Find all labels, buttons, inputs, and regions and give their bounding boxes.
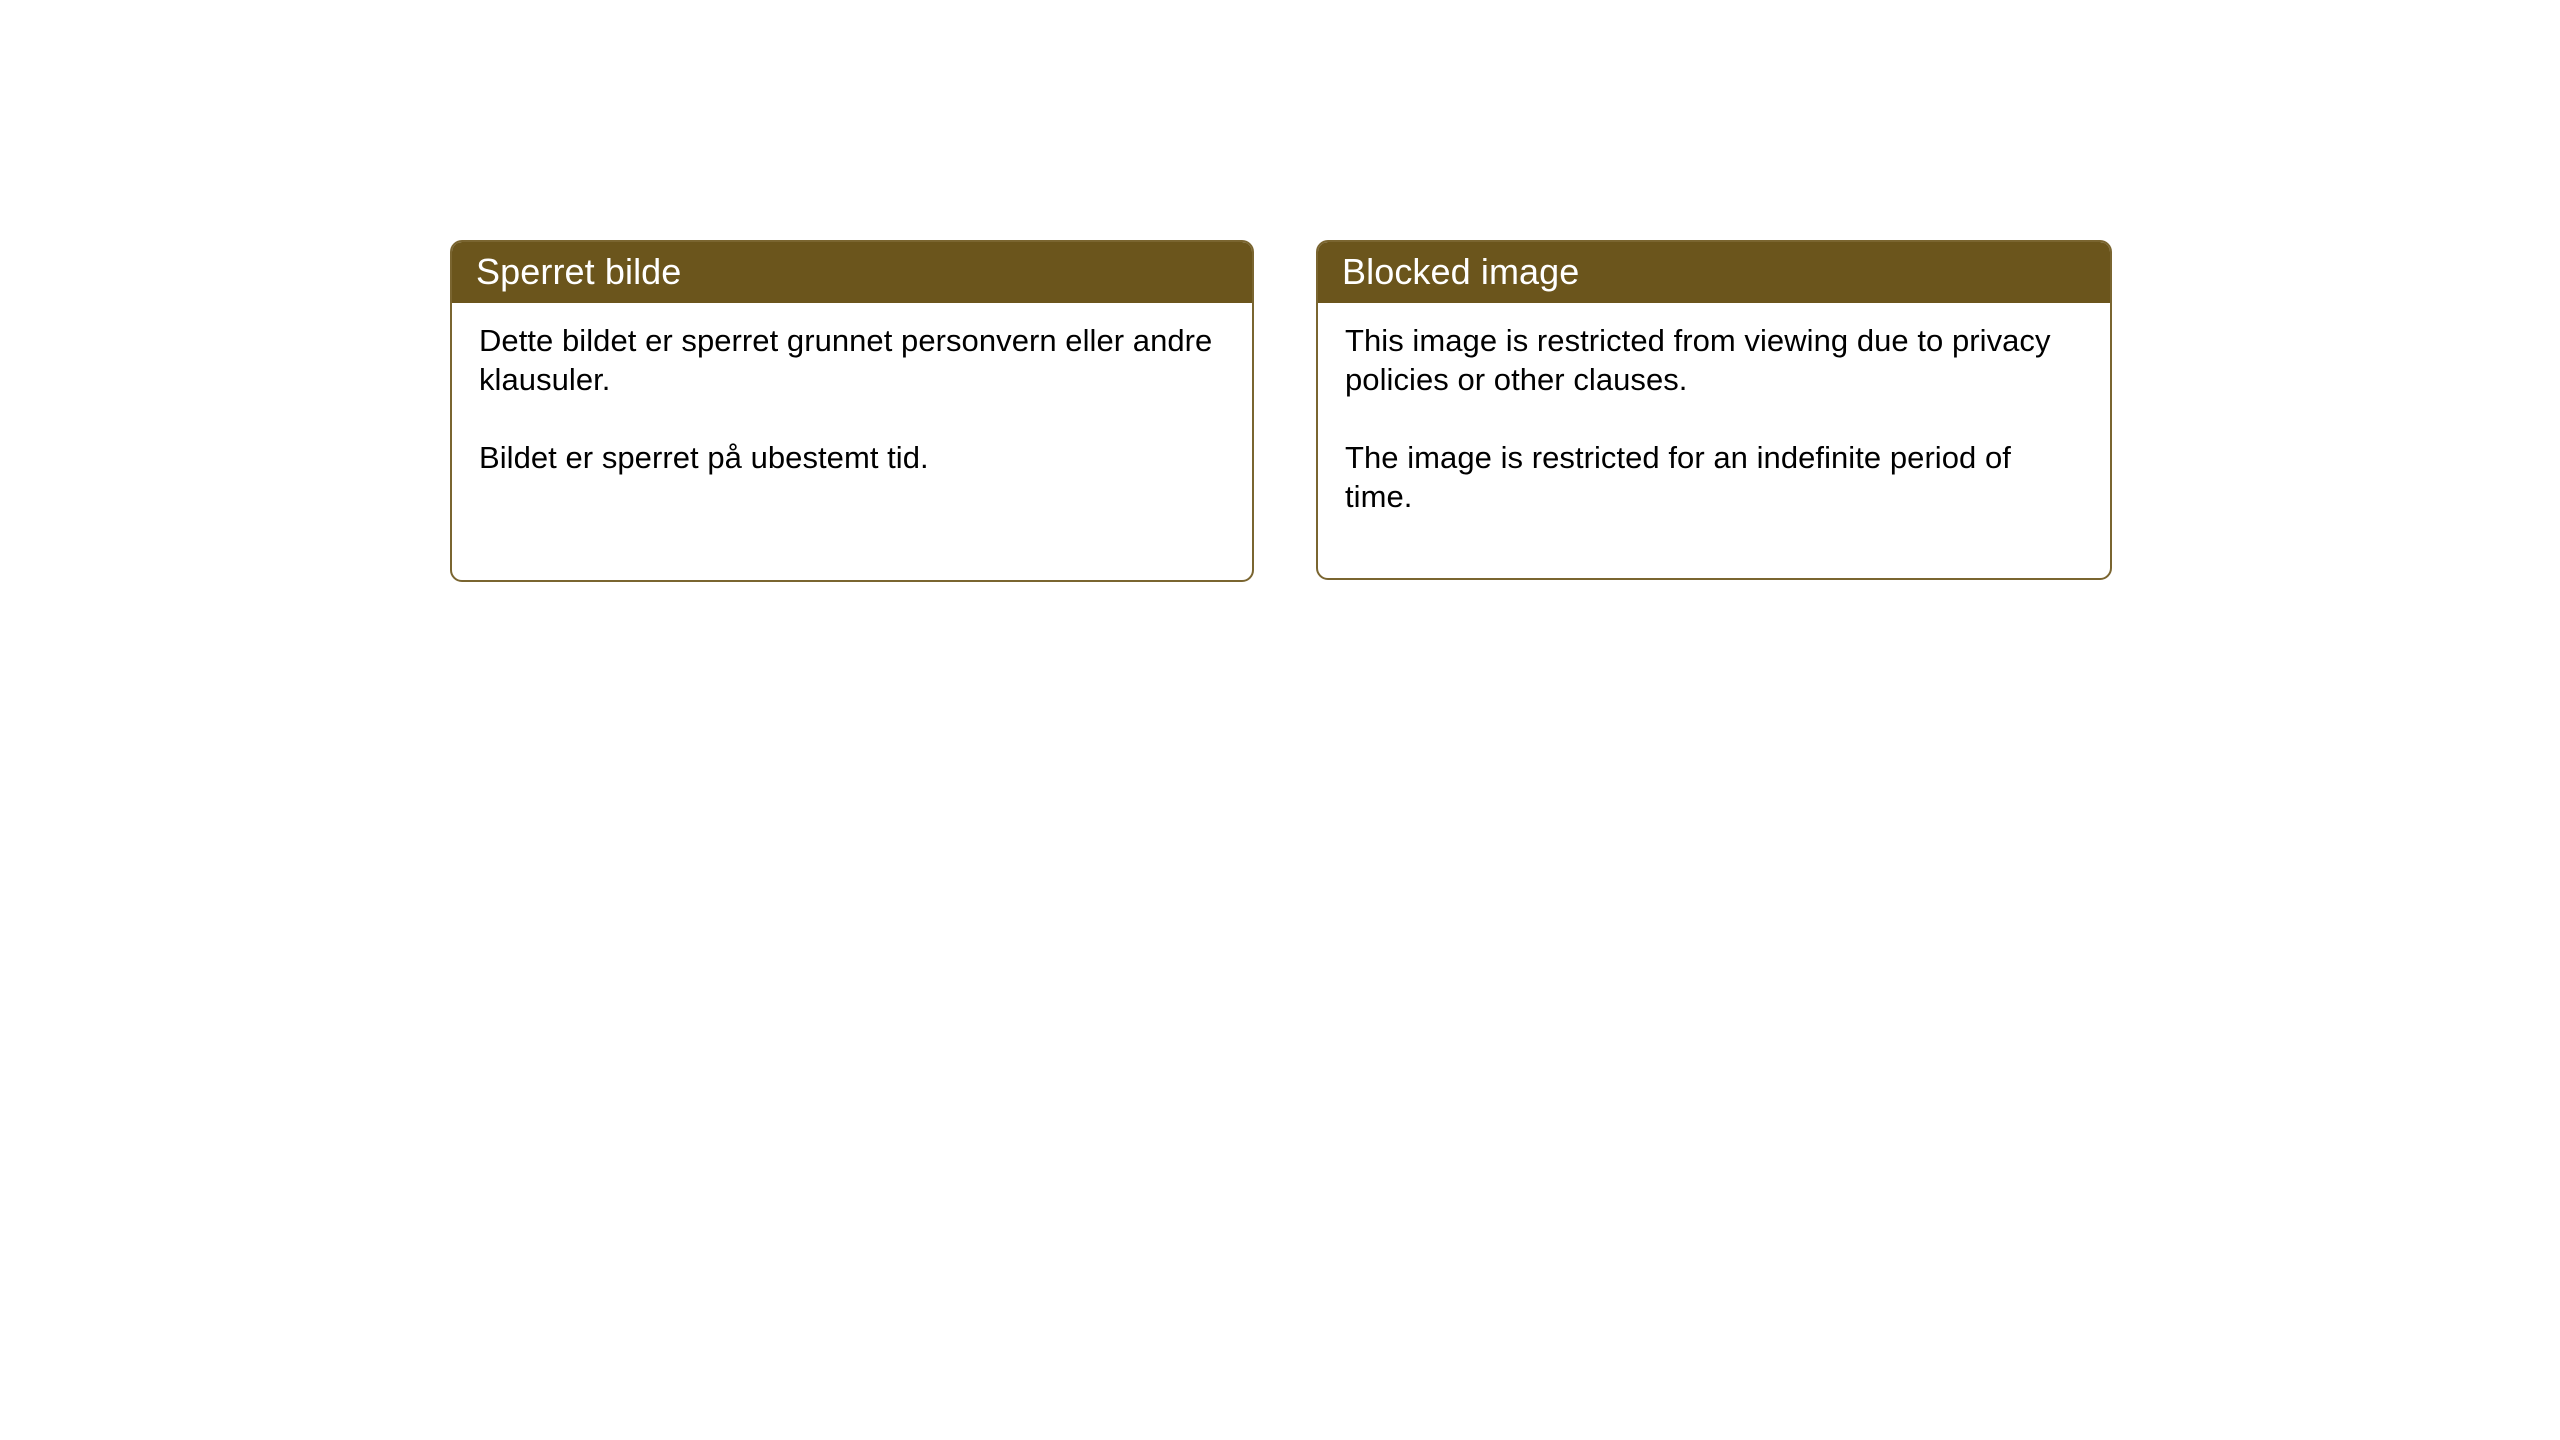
card-paragraph-primary-norwegian: Dette bildet er sperret grunnet personve…	[479, 321, 1228, 399]
card-paragraph-primary-english: This image is restricted from viewing du…	[1345, 321, 2086, 399]
blocked-image-notice-card-english: Blocked image This image is restricted f…	[1316, 240, 2112, 580]
page-canvas: Sperret bilde Dette bildet er sperret gr…	[0, 0, 2560, 1440]
blocked-image-notice-card-norwegian: Sperret bilde Dette bildet er sperret gr…	[450, 240, 1254, 582]
card-title-english: Blocked image	[1342, 252, 1579, 292]
card-title-norwegian: Sperret bilde	[476, 252, 681, 292]
card-body-norwegian: Dette bildet er sperret grunnet personve…	[452, 303, 1252, 477]
card-body-english: This image is restricted from viewing du…	[1318, 303, 2110, 516]
card-header-norwegian: Sperret bilde	[450, 240, 1254, 303]
card-header-english: Blocked image	[1316, 240, 2112, 303]
card-paragraph-secondary-english: The image is restricted for an indefinit…	[1345, 438, 2086, 516]
card-paragraph-secondary-norwegian: Bildet er sperret på ubestemt tid.	[479, 438, 1228, 477]
